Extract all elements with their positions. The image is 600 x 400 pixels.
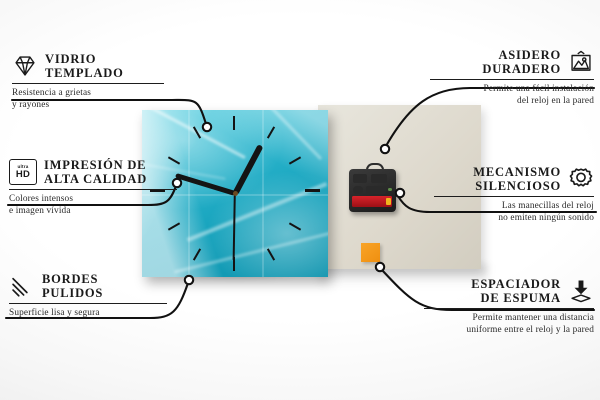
mechanism-panel <box>353 186 363 194</box>
feature-title-line2: DE ESPUMA <box>481 291 561 305</box>
feature-title: IMPRESIÓN DE ALTA CALIDAD <box>44 158 147 187</box>
feature-description: Colores intensos e imagen vívida <box>9 193 177 218</box>
feature-header: ASIDERO DURADERO <box>430 48 594 77</box>
feature-desc-line1: Las manecillas del reloj <box>502 201 594 211</box>
feature-desc-line2: del reloj en la pared <box>517 96 594 106</box>
mechanism-panel <box>353 174 367 183</box>
feature-title-line1: ASIDERO <box>498 48 561 62</box>
feature-desc-line2: e imagen vívida <box>9 206 71 216</box>
feature-title-line2: PULIDOS <box>42 286 103 300</box>
feature-desc-line1: Superficie lisa y segura <box>9 308 100 318</box>
feature-divider <box>434 196 594 197</box>
clock-tick <box>233 116 235 130</box>
feature-title-line1: IMPRESIÓN DE <box>44 158 146 172</box>
mechanism-panel <box>371 174 387 183</box>
feature-divider <box>9 303 167 304</box>
foam-spacer-arrow-icon <box>568 278 594 304</box>
foam-spacer <box>361 243 380 262</box>
feature-title-line2: DURADERO <box>482 62 561 76</box>
feature-header: BORDES PULIDOS <box>9 272 167 301</box>
feature-desc-line2: no emiten ningún sonido <box>498 213 594 223</box>
feature-title-line2: ALTA CALIDAD <box>44 172 147 186</box>
feature-desc-line1: Colores intensos <box>9 194 73 204</box>
feature-title: BORDES PULIDOS <box>42 272 103 301</box>
feature-divider <box>430 79 594 80</box>
feature-desc-line1: Permite mantener una distancia <box>473 313 594 323</box>
clock-center-hub <box>233 191 238 196</box>
feature-title-line2: TEMPLADO <box>45 66 124 80</box>
feature-title-line2: SILENCIOSO <box>475 179 561 193</box>
feature-divider <box>424 308 594 309</box>
mechanism-led <box>388 188 392 191</box>
feature-divider <box>12 83 164 84</box>
feature-title-line1: BORDES <box>42 272 98 286</box>
feature-desc-line2: uniforme entre el reloj y la pared <box>467 325 594 335</box>
feature-header: ultra HD IMPRESIÓN DE ALTA CALIDAD <box>9 158 177 187</box>
feature-bordes-pulidos: BORDES PULIDOS Superficie lisa y segura <box>9 272 167 319</box>
feature-title: ESPACIADOR DE ESPUMA <box>471 277 561 306</box>
feature-description: Superficie lisa y segura <box>9 307 167 319</box>
diamond-icon <box>12 53 38 79</box>
feature-divider <box>9 189 177 190</box>
feature-asidero-duradero: ASIDERO DURADERO Permite una fácil insta… <box>430 48 594 107</box>
clock-tick <box>305 189 320 192</box>
feature-header: ESPACIADOR DE ESPUMA <box>424 277 594 306</box>
feature-title-line1: ESPACIADOR <box>471 277 561 291</box>
feature-impresion-alta-calidad: ultra HD IMPRESIÓN DE ALTA CALIDAD Color… <box>9 158 177 217</box>
feature-title-line1: MECANISMO <box>473 165 561 179</box>
feature-vidrio-templado: VIDRIO TEMPLADO Resistencia a grietas y … <box>12 52 164 111</box>
feature-title: MECANISMO SILENCIOSO <box>473 165 561 194</box>
feature-desc-line1: Resistencia a grietas <box>12 88 91 98</box>
feature-desc-line1: Permite una fácil instalación <box>484 84 594 94</box>
mechanism-panel <box>366 186 386 194</box>
feature-description: Resistencia a grietas y rayones <box>12 87 164 112</box>
feature-header: MECANISMO SILENCIOSO <box>434 165 594 194</box>
gear-icon <box>568 166 594 192</box>
polished-edges-icon <box>9 273 35 299</box>
infographic-canvas: VIDRIO TEMPLADO Resistencia a grietas y … <box>0 0 600 400</box>
feature-header: VIDRIO TEMPLADO <box>12 52 164 81</box>
wall-frame-hanger-icon <box>568 49 594 75</box>
clock-battery <box>352 196 392 207</box>
feature-title-line1: VIDRIO <box>45 52 96 66</box>
feature-espaciador-de-espuma: ESPACIADOR DE ESPUMA Permite mantener un… <box>424 277 594 336</box>
feature-description: Permite mantener una distancia uniforme … <box>424 312 594 337</box>
feature-title: ASIDERO DURADERO <box>482 48 561 77</box>
feature-description: Las manecillas del reloj no emiten ningú… <box>434 200 594 225</box>
feature-title: VIDRIO TEMPLADO <box>45 52 124 81</box>
battery-positive-tip <box>386 198 391 205</box>
ultra-hd-badge-icon: ultra HD <box>9 159 37 185</box>
feature-desc-line2: y rayones <box>12 100 49 110</box>
feature-mecanismo-silencioso: MECANISMO SILENCIOSO Las manecillas del … <box>434 165 594 224</box>
feature-description: Permite una fácil instalación del reloj … <box>430 83 594 108</box>
hd-badge-bottom-text: HD <box>16 170 30 180</box>
